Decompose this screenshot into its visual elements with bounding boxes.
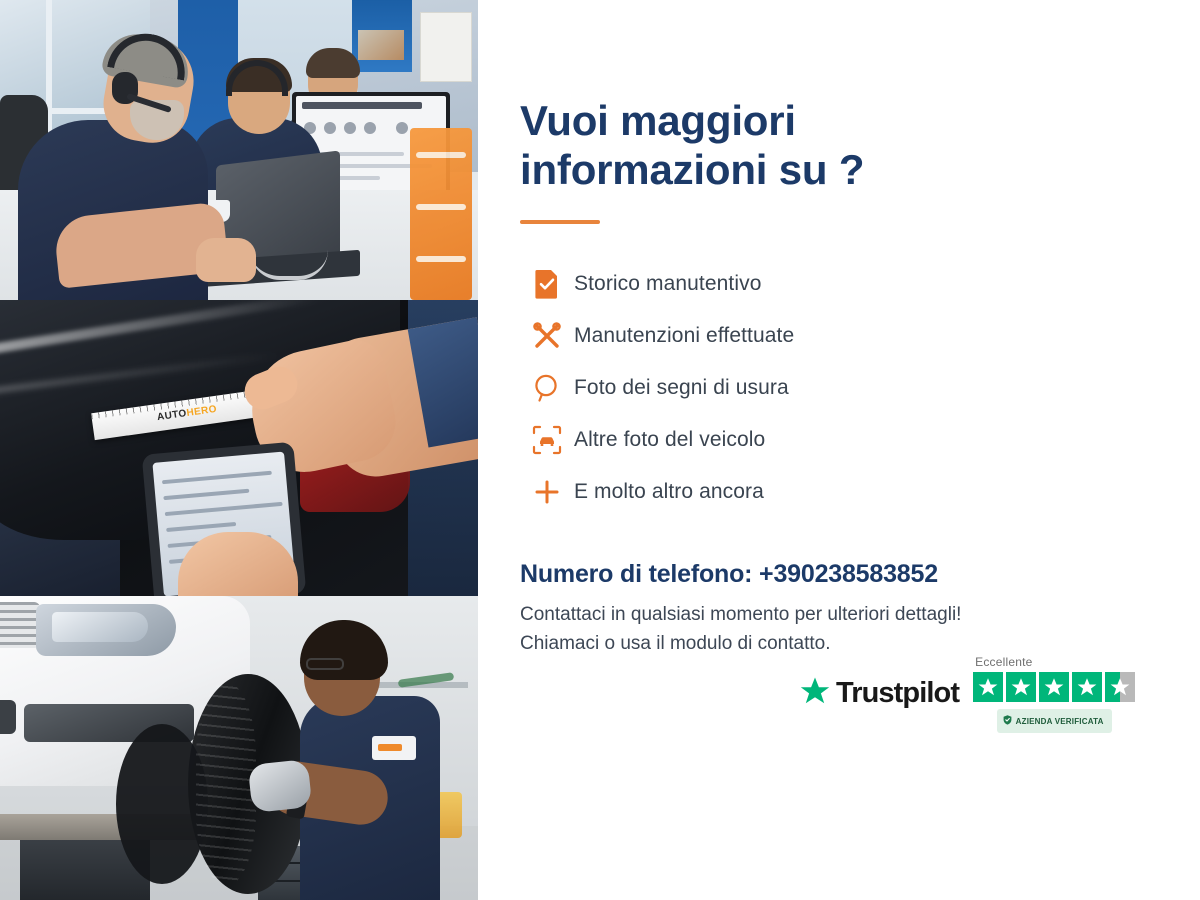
feature-item-altro: E molto altro ancora — [520, 466, 1200, 518]
plus-icon — [520, 477, 574, 507]
feature-label: Storico manutentivo — [574, 272, 762, 296]
mechanic-glove — [248, 759, 313, 813]
crossed-tools-icon — [520, 321, 574, 351]
car-inspection-ruler-photo: AUTOHERO — [0, 300, 478, 596]
wall-document — [420, 12, 472, 82]
rating-stars — [973, 672, 1135, 702]
feature-item-manutenzioni: Manutenzioni effettuate — [520, 310, 1200, 362]
photo-column: AUTOHERO — [0, 0, 478, 900]
page-title: Vuoi maggiori informazioni su ? — [520, 96, 950, 194]
mechanic-glasses — [306, 658, 344, 670]
mechanic-wheel-photo — [0, 596, 478, 900]
rating-star-filled — [973, 672, 1003, 702]
contact-line-1: Contattaci in qualsiasi momento per ulte… — [520, 601, 1200, 630]
contact-info-banner: AUTOHERO — [0, 0, 1200, 900]
headline-line-1: Vuoi maggiori — [520, 97, 796, 144]
feature-item-storico: Storico manutentivo — [520, 258, 1200, 310]
orange-equipment — [410, 128, 472, 300]
inspector-sleeve — [408, 317, 478, 447]
checklist-document-icon — [520, 269, 574, 299]
headline-line-2: informazioni su ? — [520, 146, 864, 193]
rating-star-filled — [1039, 672, 1069, 702]
tyre-tread — [196, 682, 256, 886]
rating-star-filled — [1006, 672, 1036, 702]
poster-image — [358, 30, 404, 60]
trustpilot-star-icon — [800, 676, 830, 711]
car-grille — [0, 602, 40, 648]
phone-number-line: Numero di telefono: +390238583852 — [520, 560, 1200, 589]
car-bumper-vent — [0, 700, 16, 734]
rating-star-filled — [1072, 672, 1102, 702]
contact-description: Contattaci in qualsiasi momento per ulte… — [520, 601, 1200, 659]
rating-label: Eccellente — [975, 655, 1032, 669]
shield-check-icon — [1003, 712, 1012, 730]
call-center-agents-photo — [0, 0, 478, 300]
trustpilot-rating: Eccellente — [973, 655, 1135, 733]
car-headlight-lens — [52, 612, 148, 642]
wheel-shadow — [116, 724, 208, 884]
feature-item-foto-usura: Foto dei segni di usura — [520, 362, 1200, 414]
trustpilot-wordmark: Trustpilot — [836, 677, 959, 710]
trustpilot-logo: Trustpilot — [800, 676, 959, 711]
headline-underline — [520, 220, 600, 224]
verified-company-label: AZIENDA VERIFICATA — [1016, 717, 1104, 726]
verified-company-badge: AZIENDA VERIFICATA — [997, 709, 1112, 733]
feature-item-altre-foto: Altre foto del veicolo — [520, 414, 1200, 466]
content-panel: Vuoi maggiori informazioni su ? Storico … — [478, 0, 1200, 900]
agent-foreground-hand — [196, 238, 256, 282]
feature-list: Storico manutentivo Manutenzioni effettu… — [520, 258, 1200, 518]
mechanic-sleeve-logo — [372, 736, 416, 760]
trustpilot-widget[interactable]: Trustpilot Eccellente — [800, 655, 1135, 733]
feature-label: Foto dei segni di usura — [574, 376, 789, 400]
magnifier-icon — [520, 373, 574, 403]
feature-label: E molto altro ancora — [574, 480, 764, 504]
car-focus-frame-icon — [520, 425, 574, 455]
rating-star-half — [1105, 672, 1135, 702]
feature-label: Manutenzioni effettuate — [574, 324, 794, 348]
feature-label: Altre foto del veicolo — [574, 428, 765, 452]
